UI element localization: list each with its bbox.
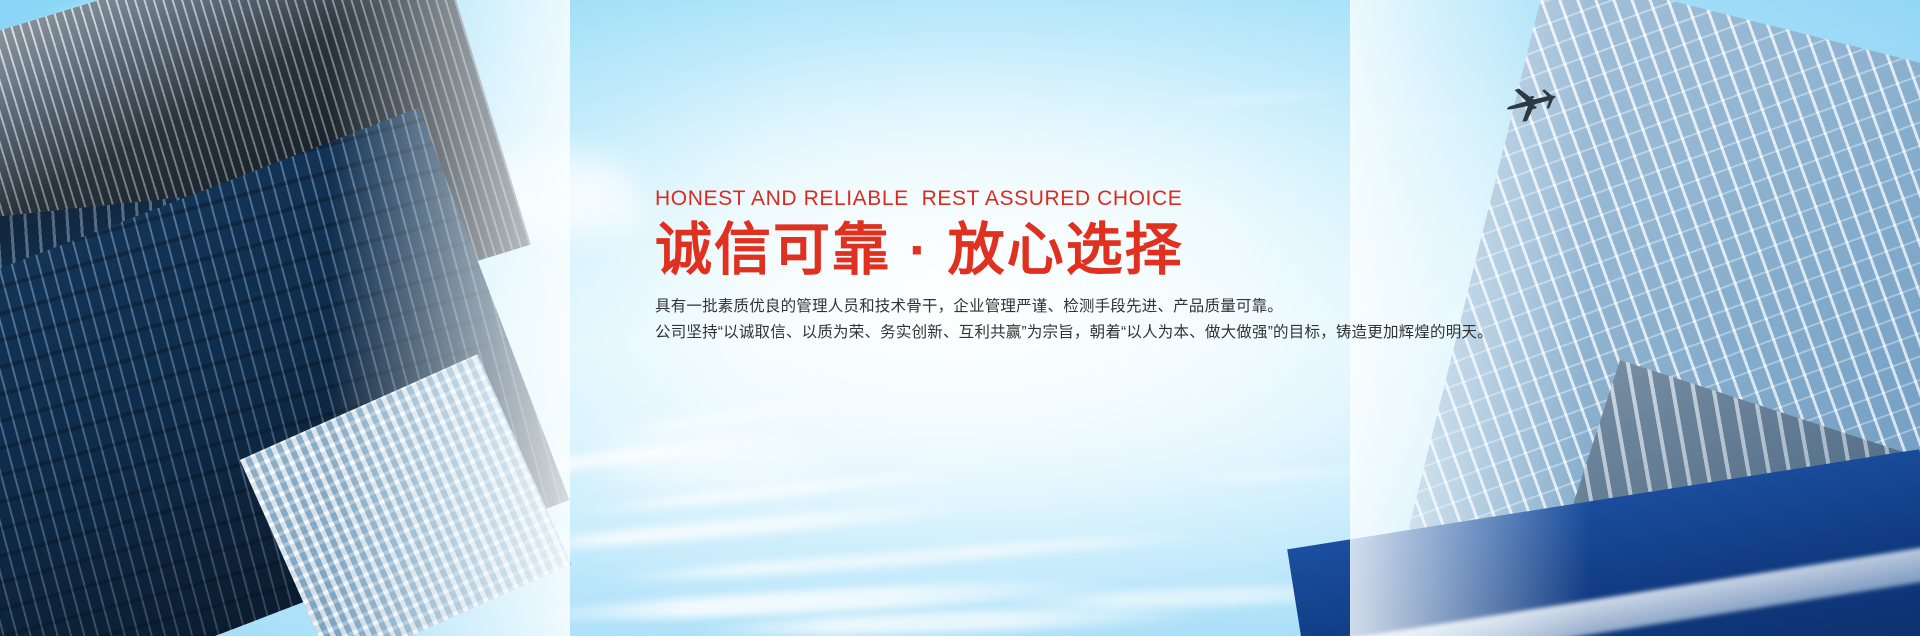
left-haze-overlay xyxy=(330,0,570,636)
banner-eyebrow: HONEST AND RELIABLE REST ASSURED CHOICE xyxy=(655,188,1555,209)
hero-banner: HONEST AND RELIABLE REST ASSURED CHOICE … xyxy=(0,0,1920,636)
description-line: 公司坚持“以诚取信、以质为荣、务实创新、互利共赢”为宗旨，朝着“以人为本、做大做… xyxy=(655,320,1555,346)
banner-headline: 诚信可靠 · 放心选择 xyxy=(655,220,1555,280)
airplane-icon xyxy=(1502,82,1560,122)
description-line: 具有一批素质优良的管理人员和技术骨干，企业管理严谨、检测手段先进、产品质量可靠。 xyxy=(655,294,1555,320)
banner-copy: HONEST AND RELIABLE REST ASSURED CHOICE … xyxy=(655,188,1555,346)
banner-description: 具有一批素质优良的管理人员和技术骨干，企业管理严谨、检测手段先进、产品质量可靠。… xyxy=(655,294,1555,346)
